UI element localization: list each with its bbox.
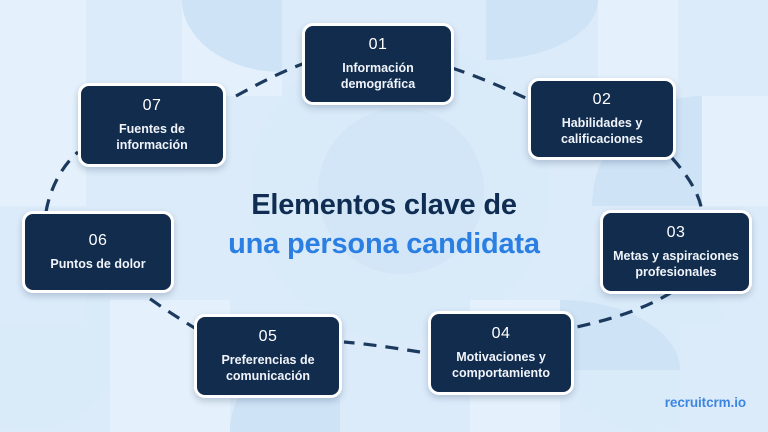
card-label-line-1: Puntos de dolor xyxy=(50,256,145,272)
card-label-line-1: Información xyxy=(342,60,414,76)
card-number: 01 xyxy=(369,36,388,54)
card-03-metas-y-aspiraciones-profesionales[interactable]: 03 Metas y aspiraciones profesionales xyxy=(600,210,752,294)
card-04-motivaciones-y-comportamiento[interactable]: 04 Motivaciones y comportamiento xyxy=(428,311,574,395)
card-label-line-2: profesionales xyxy=(635,264,716,280)
connector-03-04 xyxy=(572,292,672,328)
card-number: 06 xyxy=(89,232,108,250)
connector-07-01 xyxy=(236,62,308,96)
card-label-line-2: información xyxy=(116,137,188,153)
card-label-line-2: comunicación xyxy=(226,368,310,384)
connector-02-03 xyxy=(672,158,702,212)
card-07-fuentes-de-informacion[interactable]: 07 Fuentes de información xyxy=(78,83,226,167)
card-number: 03 xyxy=(667,224,686,242)
card-label-line-1: Motivaciones y xyxy=(456,349,546,365)
card-label-line-1: Metas y aspiraciones xyxy=(613,248,739,264)
connector-06-07 xyxy=(46,152,78,212)
card-label-line-1: Fuentes de xyxy=(119,121,185,137)
connector-01-02 xyxy=(452,68,530,100)
card-label-line-1: Habilidades y xyxy=(562,115,643,131)
card-label-line-2: calificaciones xyxy=(561,131,643,147)
card-01-informacion-demografica[interactable]: 01 Información demográfica xyxy=(302,23,454,105)
recruitcrm-logo[interactable]: recruitcrm.io xyxy=(665,395,746,410)
card-label-line-2: comportamiento xyxy=(452,365,550,381)
card-02-habilidades-y-calificaciones[interactable]: 02 Habilidades y calificaciones xyxy=(528,78,676,160)
infographic-canvas: 01 Información demográfica 02 Habilidade… xyxy=(0,0,768,432)
card-number: 02 xyxy=(593,91,612,109)
connector-04-05 xyxy=(344,342,420,352)
connector-05-06 xyxy=(146,296,198,330)
card-number: 07 xyxy=(143,97,162,115)
card-label-line-2: demográfica xyxy=(341,76,415,92)
card-label-line-1: Preferencias de xyxy=(221,352,314,368)
card-number: 04 xyxy=(492,325,511,343)
card-number: 05 xyxy=(259,328,278,346)
card-05-preferencias-de-comunicacion[interactable]: 05 Preferencias de comunicación xyxy=(194,314,342,398)
card-06-puntos-de-dolor[interactable]: 06 Puntos de dolor xyxy=(22,211,174,293)
